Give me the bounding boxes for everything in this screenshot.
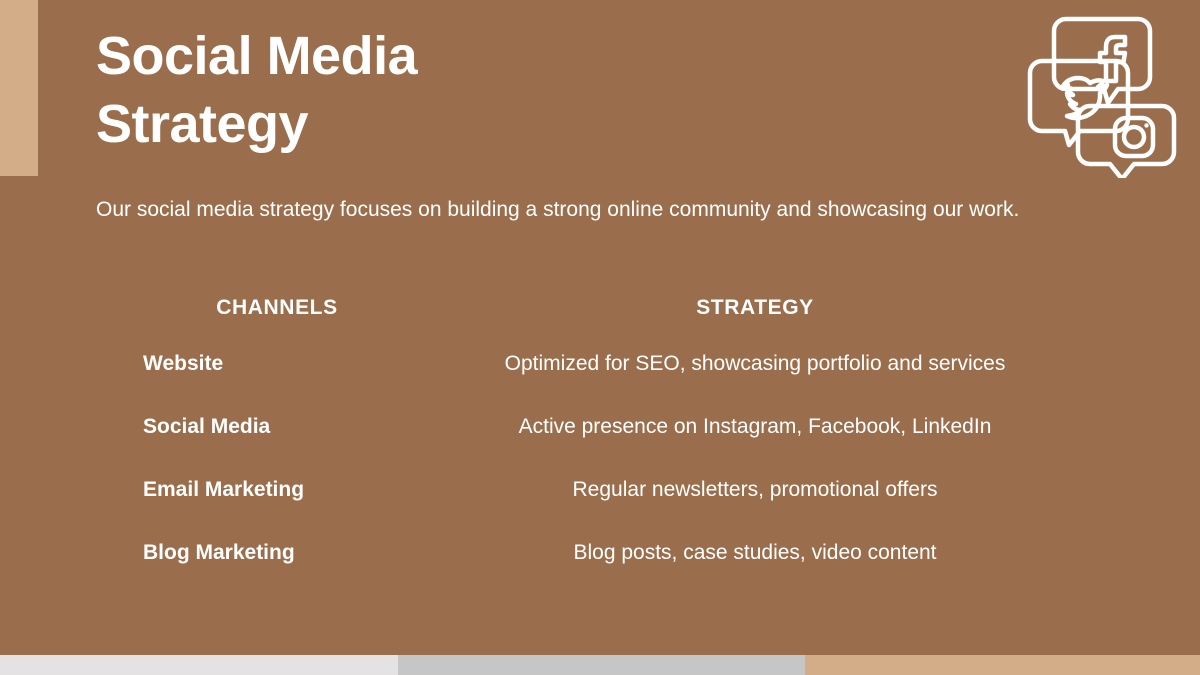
slide-canvas: Social Media Strategy Our social media s… [0, 0, 1200, 675]
bottom-color-strip [0, 655, 1200, 675]
table-row: Blog Marketing Blog posts, case studies,… [0, 531, 1200, 594]
cell-strategy: Blog posts, case studies, video content [460, 541, 1050, 565]
column-header-strategy: STRATEGY [460, 296, 1050, 320]
page-title-line-2: Strategy [96, 90, 916, 158]
table-header-row: CHANNELS STRATEGY [0, 296, 1200, 342]
page-subtitle: Our social media strategy focuses on bui… [96, 192, 1046, 227]
light-segment [0, 655, 398, 675]
page-title: Social Media Strategy [96, 22, 916, 158]
page-title-line-1: Social Media [96, 22, 916, 90]
channels-strategy-table: CHANNELS STRATEGY Website Optimized for … [0, 296, 1200, 594]
table-row: Email Marketing Regular newsletters, pro… [0, 468, 1200, 531]
cell-strategy: Optimized for SEO, showcasing portfolio … [460, 352, 1050, 376]
social-media-bubbles-icon [1022, 6, 1182, 178]
cell-channel: Blog Marketing [143, 541, 295, 565]
cell-strategy: Regular newsletters, promotional offers [460, 478, 1050, 502]
instagram-bubble-shape [1078, 106, 1174, 178]
column-header-channels: CHANNELS [112, 296, 442, 320]
cell-channel: Email Marketing [143, 478, 304, 502]
cell-channel: Website [143, 352, 223, 376]
table-row: Social Media Active presence on Instagra… [0, 405, 1200, 468]
cell-channel: Social Media [143, 415, 270, 439]
cell-strategy: Active presence on Instagram, Facebook, … [460, 415, 1050, 439]
left-accent-bar [0, 0, 38, 176]
tan-segment [805, 655, 1200, 675]
table-row: Website Optimized for SEO, showcasing po… [0, 342, 1200, 405]
gray-segment [398, 655, 805, 675]
